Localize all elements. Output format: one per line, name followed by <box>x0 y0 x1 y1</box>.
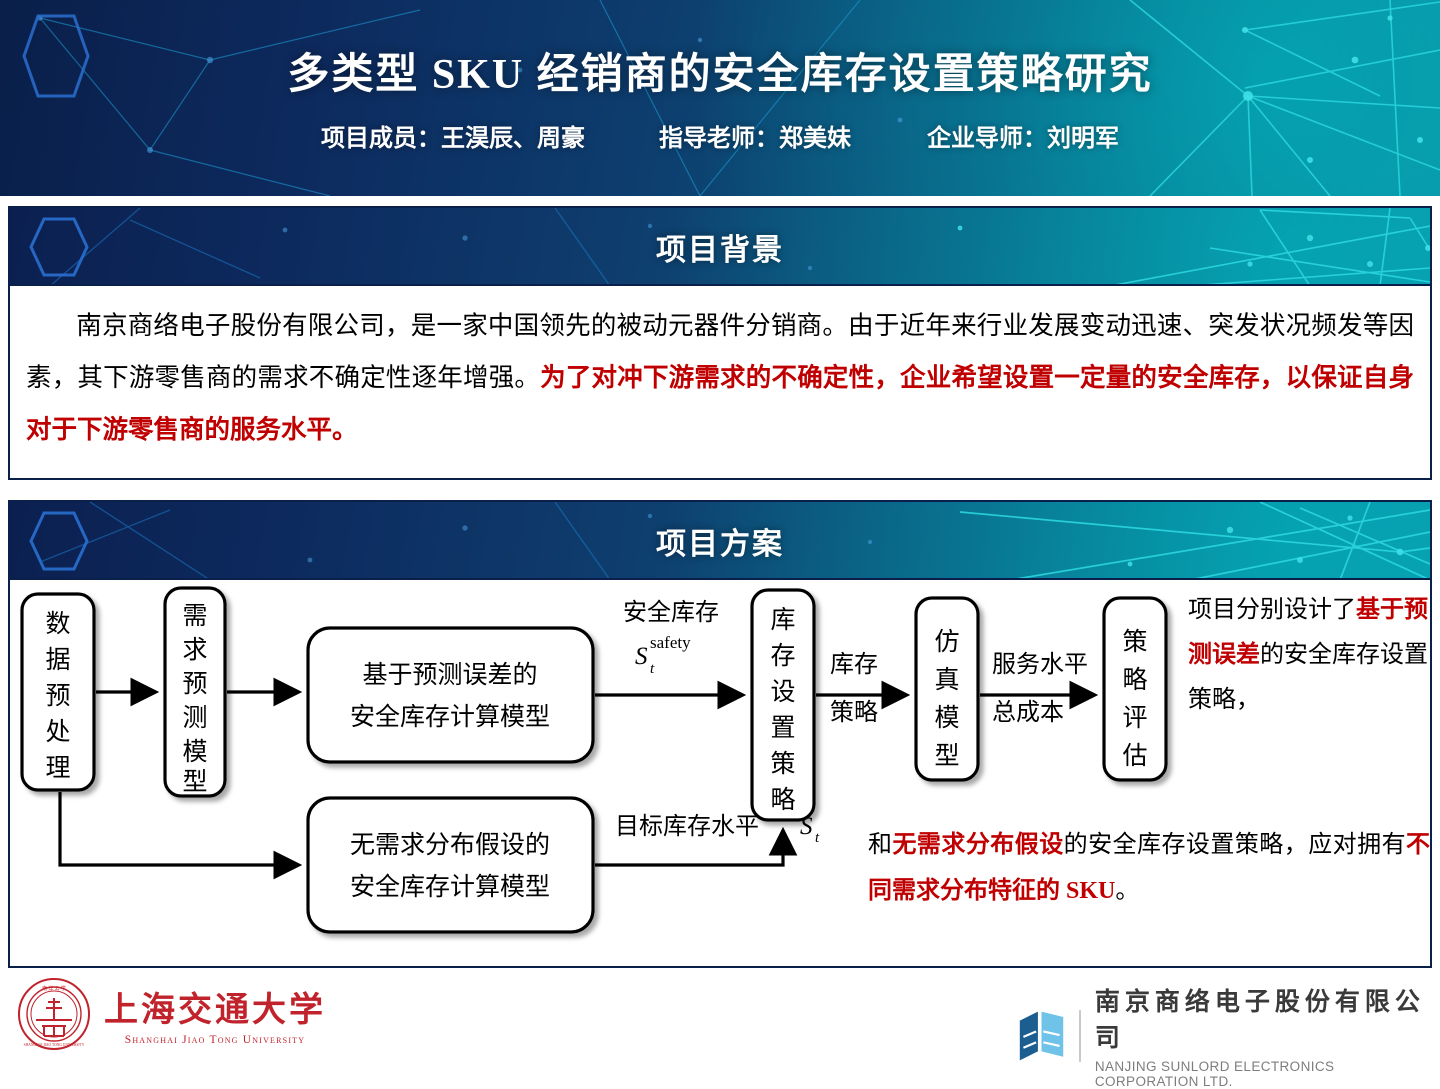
svg-text:南 洋 公 学: 南 洋 公 学 <box>42 985 66 992</box>
edge-label-text: 安全库存 <box>623 599 719 626</box>
flow-node-demand-forecast: 需 求 预 测 模 型 <box>165 588 225 796</box>
svg-text:据: 据 <box>45 646 70 674</box>
industry-mentor: 企业导师：刘明军 <box>927 118 1119 153</box>
section-header-plan: 项目方案 <box>10 502 1430 580</box>
flow-node-label: 数 <box>45 610 70 638</box>
section-title-plan: 项目方案 <box>10 502 1430 580</box>
plan-right-text: 项目分别设计了基于预测误差的安全库存设置策略， <box>1188 588 1428 723</box>
flow-node-label-line2: 安全库存计算模型 <box>350 703 550 731</box>
flow-node-model-forecast-error: 基于预测误差的 安全库存计算模型 <box>308 628 593 762</box>
flow-edge-label-inventory-strategy: 库存 策略 <box>830 651 878 726</box>
bottom-text-highlight-a: 无需求分布假设 <box>892 832 1063 858</box>
svg-text:估: 估 <box>1122 742 1147 770</box>
academic-advisor: 指导老师：郑美妹 <box>659 118 851 153</box>
flow-node-model-distribution-free: 无需求分布假设的 安全库存计算模型 <box>308 798 593 932</box>
edge-label-symbol-sub: t <box>650 661 655 677</box>
sunlord-mark-icon <box>1018 1007 1065 1065</box>
bottom-text-plain-c: 。 <box>1115 878 1139 904</box>
flow-edge-label-safety-stock: 安全库存 S safety t <box>623 599 719 677</box>
svg-text:预: 预 <box>182 671 207 698</box>
poster-footer: 南 洋 公 学 SHANGHAI JIAO TONG UNIVERSITY 上海… <box>0 968 1440 1080</box>
flow-node-label: 库 <box>770 606 795 634</box>
svg-text:设: 设 <box>770 678 795 706</box>
section-header-background: 项目背景 <box>10 208 1430 286</box>
edge-label-symbol: S <box>635 643 648 670</box>
svg-text:略: 略 <box>770 786 795 814</box>
sunlord-wordmark: 南京商络电子股份有限公司 NANJING SUNLORD ELECTRONICS… <box>1095 982 1440 1089</box>
svg-text:理: 理 <box>45 755 70 782</box>
edge-label-line1: 服务水平 <box>992 651 1088 678</box>
section-panel-background: 项目背景 南京商络电子股份有限公司，是一家中国领先的被动元器件分销商。由于近年来… <box>8 206 1432 480</box>
svg-text:模: 模 <box>934 704 959 732</box>
right-text-plain-a: 项目分别设计了 <box>1188 597 1356 623</box>
svg-text:预: 预 <box>45 683 70 710</box>
edge-label-line2: 总成本 <box>992 699 1064 726</box>
sjtu-logo-group: 南 洋 公 学 SHANGHAI JIAO TONG UNIVERSITY 上海… <box>16 976 326 1052</box>
svg-text:模: 模 <box>182 738 207 766</box>
svg-text:略: 略 <box>1122 666 1147 694</box>
poster-credits: 项目成员：王淏辰、周豪 指导老师：郑美妹 企业导师：刘明军 <box>0 118 1440 153</box>
flow-node-label: 策 <box>1122 628 1147 656</box>
svg-text:置: 置 <box>770 715 795 742</box>
svg-text:策: 策 <box>770 750 795 778</box>
flow-node-label: 仿 <box>934 628 959 656</box>
svg-text:存: 存 <box>770 642 795 670</box>
flow-node-label-line1: 基于预测误差的 <box>362 661 537 689</box>
sunlord-name-en: NANJING SUNLORD ELECTRONICS CORPORATION … <box>1095 1059 1440 1089</box>
sjtu-name-en: Shanghai Jiao Tong University <box>125 1034 306 1046</box>
flow-node-simulation-model: 仿 真 模 型 <box>916 598 978 780</box>
svg-text:真: 真 <box>934 666 959 694</box>
section-panel-plan: 项目方案 数 据 预 处 理 <box>8 500 1432 968</box>
edge-label-symbol: S <box>800 813 813 840</box>
flow-node-policy-evaluation: 策 略 评 估 <box>1104 598 1166 780</box>
flow-node-inventory-policy: 库 存 设 置 策 略 <box>752 590 814 820</box>
poster-title: 多类型 SKU 经销商的安全库存设置策略研究 <box>0 40 1440 101</box>
sunlord-name-cn: 南京商络电子股份有限公司 <box>1095 982 1440 1054</box>
svg-text:型: 型 <box>934 742 959 770</box>
svg-text:处: 处 <box>45 718 70 746</box>
flow-edge-label-service-cost: 服务水平 总成本 <box>992 651 1088 726</box>
sjtu-seal-icon: 南 洋 公 学 SHANGHAI JIAO TONG UNIVERSITY <box>16 976 92 1052</box>
svg-text:测: 测 <box>182 704 207 732</box>
flow-node-data-pre: 数 据 预 处 理 <box>22 594 94 790</box>
svg-text:评: 评 <box>1122 705 1147 732</box>
section-title-background: 项目背景 <box>10 208 1430 286</box>
svg-text:求: 求 <box>182 636 207 664</box>
edge-label-symbol-sub: t <box>815 830 820 846</box>
svg-text:SHANGHAI JIAO TONG UNIVERSITY: SHANGHAI JIAO TONG UNIVERSITY <box>24 1043 85 1047</box>
plan-body: 数 据 预 处 理 需 求 预 测 模 型 基于预测误差的 安全库存计算模型 <box>10 580 1430 968</box>
edge-label-line2: 策略 <box>830 699 878 726</box>
edge-label-symbol-sup: safety <box>650 633 691 652</box>
poster-header-banner: 多类型 SKU 经销商的安全库存设置策略研究 项目成员：王淏辰、周豪 指导老师：… <box>0 0 1440 196</box>
svg-text:型: 型 <box>182 768 207 796</box>
bottom-text-plain-a: 和 <box>868 832 892 858</box>
sunlord-divider <box>1079 1010 1081 1062</box>
edge-label-line1: 库存 <box>830 651 878 678</box>
plan-bottom-text: 和无需求分布假设的安全库存设置策略，应对拥有不同需求分布特征的 SKU。 <box>868 822 1430 914</box>
flow-node-label: 需 <box>182 603 207 630</box>
flow-node-label-line2: 安全库存计算模型 <box>350 873 550 901</box>
sjtu-name-cn: 上海交通大学 <box>104 982 326 1031</box>
edge-label-text: 目标库存水平 <box>615 813 759 840</box>
project-members: 项目成员：王淏辰、周豪 <box>321 118 585 153</box>
bottom-text-plain-b: 的安全库存设置策略，应对拥有 <box>1064 832 1406 858</box>
sunlord-logo-group: 南京商络电子股份有限公司 NANJING SUNLORD ELECTRONICS… <box>1018 982 1440 1089</box>
sjtu-wordmark: 上海交通大学 Shanghai Jiao Tong University <box>104 982 326 1046</box>
background-paragraph: 南京商络电子股份有限公司，是一家中国领先的被动元器件分销商。由于近年来行业发展变… <box>10 286 1430 456</box>
flow-node-label-line1: 无需求分布假设的 <box>350 831 550 859</box>
